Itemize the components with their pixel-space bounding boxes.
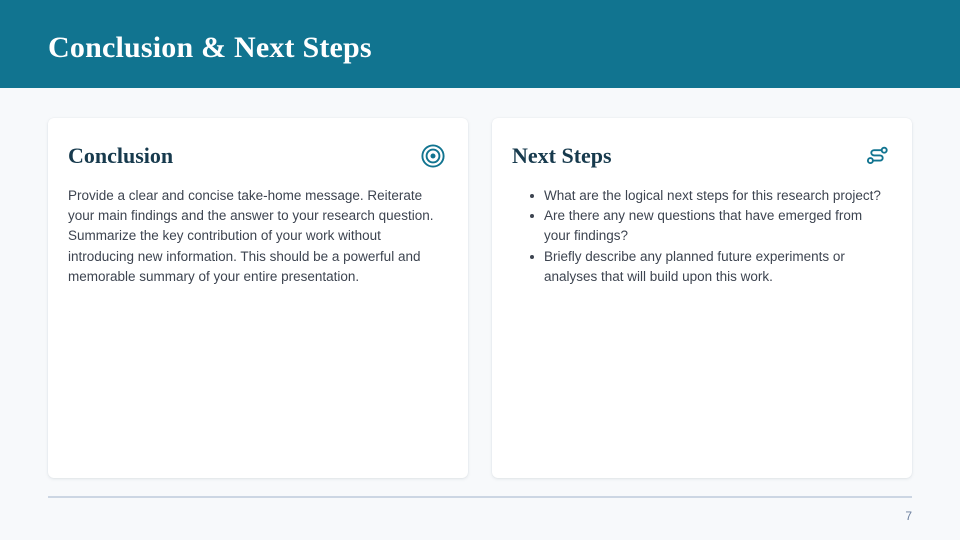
card-next-steps-header: Next Steps: [512, 140, 890, 172]
slide-content-area: Conclusion Provide a clear and concise t…: [48, 118, 912, 478]
list-item: Are there any new questions that have em…: [530, 206, 890, 246]
target-icon: [420, 143, 446, 169]
route-icon: [864, 143, 890, 169]
card-conclusion-body: Provide a clear and concise take-home me…: [68, 186, 446, 287]
card-conclusion: Conclusion Provide a clear and concise t…: [48, 118, 468, 478]
footer-divider: [48, 496, 912, 498]
card-conclusion-paragraph: Provide a clear and concise take-home me…: [68, 186, 446, 287]
page-title: Conclusion & Next Steps: [48, 30, 372, 66]
card-conclusion-title: Conclusion: [68, 142, 173, 170]
list-item: Briefly describe any planned future expe…: [530, 247, 890, 287]
card-next-steps-body: What are the logical next steps for this…: [512, 186, 890, 287]
list-item: What are the logical next steps for this…: [530, 186, 890, 206]
card-conclusion-header: Conclusion: [68, 140, 446, 172]
next-steps-list: What are the logical next steps for this…: [512, 186, 890, 287]
page-number: 7: [880, 508, 912, 524]
card-next-steps-title: Next Steps: [512, 142, 612, 170]
slide-header-band: Conclusion & Next Steps: [0, 0, 960, 88]
card-next-steps: Next Steps What are the logical next ste…: [492, 118, 912, 478]
